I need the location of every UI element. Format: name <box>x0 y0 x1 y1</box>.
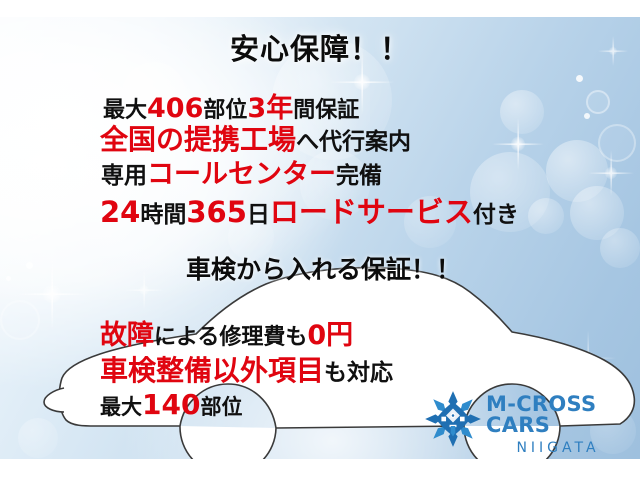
feature-line-7: 最大140部位 <box>100 388 242 421</box>
top-white-band <box>0 0 640 17</box>
text-segment: 140 <box>142 388 200 421</box>
text-segment: 故障 <box>100 320 154 351</box>
bottom-white-band <box>0 459 640 480</box>
feature-line-5: 故障による修理費も0円 <box>100 313 353 352</box>
text-segment: 専用 <box>101 163 147 189</box>
text-segment: 車検整備以外項目 <box>100 354 324 387</box>
middle-heading: 車検から入れる保証！！ <box>186 250 461 286</box>
logo-region: NIIGATA <box>486 441 636 455</box>
text-segment: 24 <box>100 195 140 229</box>
text-segment: 最大 <box>100 395 142 419</box>
text-segment: も対応 <box>324 360 393 386</box>
text-segment: 完備 <box>336 163 382 189</box>
text-segment: による修理費も <box>154 325 307 350</box>
logo-company-name: M-CROSS CARS <box>486 394 636 436</box>
page-title: 安心保障！！ <box>0 26 640 68</box>
feature-line-6: 車検整備以外項目も対応 <box>100 349 393 389</box>
text-segment: 日 <box>247 202 270 228</box>
text-segment: コールセンター <box>147 159 336 190</box>
snowflake-icon <box>424 390 482 448</box>
text-segment: 365 <box>186 195 247 229</box>
text-segment: 時間 <box>140 202 186 228</box>
text-segment: ロードサービス <box>270 195 473 229</box>
advertisement-banner: 安心保障！！ 最大406部位3年間保証 全国の提携工場へ代行案内 専用コールセン… <box>0 0 640 480</box>
company-logo: M-CROSS CARS NIIGATA <box>424 388 634 452</box>
text-segment: 部位 <box>200 395 242 419</box>
feature-line-4: 24時間365日ロードサービス付き <box>100 189 519 231</box>
logo-wordmark: M-CROSS CARS NIIGATA <box>486 394 636 455</box>
text-segment: 0円 <box>307 320 353 351</box>
text-segment: 付き <box>473 202 519 228</box>
feature-line-3: 専用コールセンター完備 <box>101 152 382 191</box>
